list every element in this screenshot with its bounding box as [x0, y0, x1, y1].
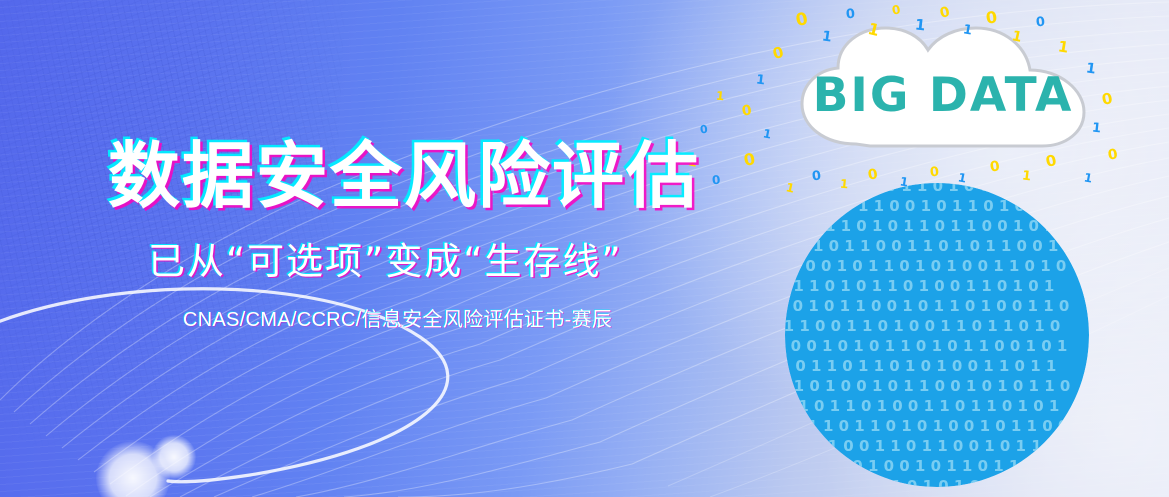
big-data-cloud: BIG DATA — [778, 22, 1108, 167]
page-subtitle: 已从“可选项”变成“生存线” — [148, 243, 623, 280]
page-title: 数据安全风险评估 — [108, 140, 700, 212]
cloud-label: BIG DATA — [778, 22, 1108, 167]
binary-data-globe: 1 0 1 1 0 0 1 0 1 1 0 1 0 0 1 0 1 1 0 0 … — [772, 175, 1102, 497]
certification-caption: CNAS/CMA/CCRC/信息安全风险评估证书-赛辰 — [183, 310, 612, 330]
data-security-banner: 1 0 1 1 0 0 1 0 1 1 0 1 0 0 1 0 1 1 0 0 … — [0, 0, 1169, 497]
orbit-swoosh-line — [0, 267, 520, 497]
swoosh-dot-small — [152, 435, 196, 479]
